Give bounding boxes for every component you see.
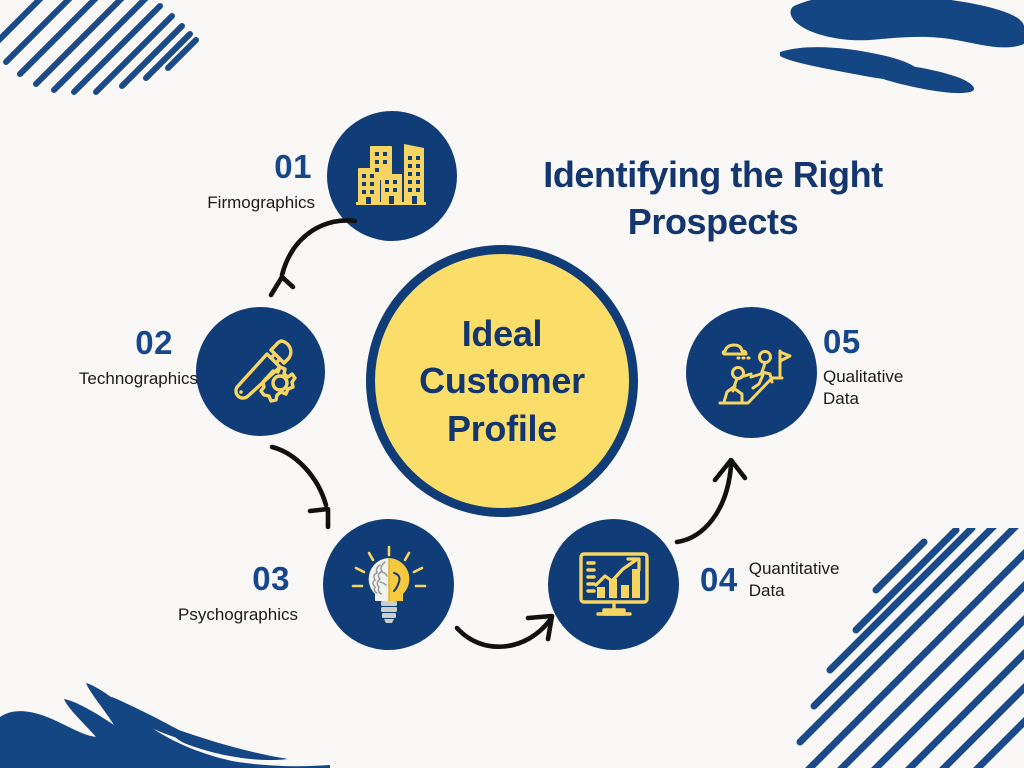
step-number-05: 05 bbox=[823, 325, 1013, 358]
step-name-04-line-2: Data bbox=[749, 580, 840, 602]
step-name-05-line-2: Data bbox=[823, 388, 1013, 410]
step-node-03-psychographics[interactable] bbox=[323, 519, 454, 650]
step-node-04-quantitative-data[interactable] bbox=[548, 519, 679, 650]
step-node-01-firmographics[interactable] bbox=[327, 111, 457, 241]
hub-line-3: Profile bbox=[419, 405, 585, 453]
hub-line-1: Ideal bbox=[419, 310, 585, 358]
step-name-04: Quantitative Data bbox=[749, 558, 840, 602]
step-label-04: 04 Quantitative Data bbox=[700, 558, 900, 602]
flow-arrow-04-to-05-icon bbox=[673, 450, 768, 550]
step-node-02-technographics[interactable] bbox=[196, 307, 325, 436]
office-buildings-icon bbox=[350, 134, 434, 218]
step-number-02: 02 bbox=[18, 326, 173, 359]
step-number-04: 04 bbox=[700, 558, 738, 596]
step-name-03: Psychographics bbox=[130, 604, 298, 626]
page-title-line-1: Identifying the Right bbox=[478, 152, 948, 199]
step-label-02: 02 Technographics bbox=[18, 326, 198, 390]
ideal-customer-profile-hub[interactable]: Ideal Customer Profile bbox=[366, 245, 638, 517]
step-label-03: 03 Psychographics bbox=[130, 562, 298, 626]
wrench-gear-icon bbox=[220, 331, 302, 413]
step-name-05: Qualitative Data bbox=[823, 366, 1013, 410]
teamwork-climbing-flag-icon bbox=[710, 331, 794, 415]
hatch-lines-top-left-icon bbox=[0, 0, 210, 115]
step-name-02: Technographics bbox=[18, 368, 198, 390]
hub-text: Ideal Customer Profile bbox=[401, 310, 603, 453]
infographic-canvas: Identifying the Right Prospects Ideal Cu… bbox=[0, 0, 1024, 768]
step-number-03: 03 bbox=[130, 562, 290, 595]
flow-arrow-01-to-02-icon bbox=[255, 213, 360, 308]
page-title: Identifying the Right Prospects bbox=[478, 152, 948, 246]
flow-arrow-02-to-03-icon bbox=[266, 443, 366, 538]
step-name-04-line-1: Quantitative bbox=[749, 558, 840, 580]
step-name-01: Firmographics bbox=[150, 192, 315, 214]
step-name-05-line-1: Qualitative bbox=[823, 366, 1013, 388]
brain-lightbulb-icon bbox=[346, 542, 432, 628]
page-title-line-2: Prospects bbox=[478, 199, 948, 246]
step-label-01: 01 Firmographics bbox=[150, 150, 315, 214]
hub-line-2: Customer bbox=[419, 357, 585, 405]
brush-stroke-bottom-left-icon bbox=[0, 653, 330, 768]
step-number-01: 01 bbox=[150, 150, 312, 183]
step-node-05-qualitative-data[interactable] bbox=[686, 307, 817, 438]
step-label-05: 05 Qualitative Data bbox=[823, 325, 1013, 410]
monitor-bar-chart-icon bbox=[572, 543, 656, 627]
brush-stroke-top-right-icon bbox=[774, 0, 1024, 110]
